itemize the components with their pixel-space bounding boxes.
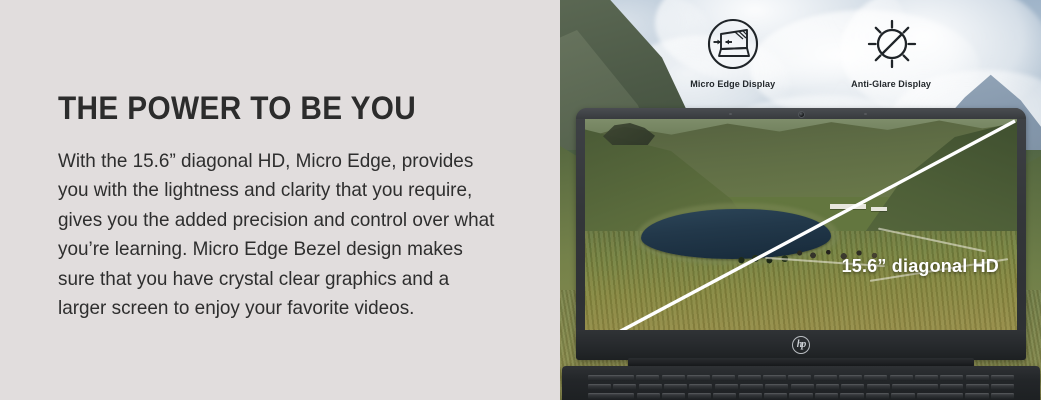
hp-logo: hp bbox=[792, 336, 810, 354]
screen-building bbox=[871, 207, 887, 211]
key bbox=[639, 384, 662, 390]
key bbox=[840, 393, 863, 399]
product-photo-panel: Micro Edge Display bbox=[560, 0, 1041, 400]
webcam-icon bbox=[798, 111, 805, 118]
key bbox=[940, 384, 963, 390]
laptop-chin-bezel: hp bbox=[576, 330, 1026, 360]
key bbox=[662, 375, 685, 381]
laptop-keyboard bbox=[588, 375, 1014, 400]
page-title: THE POWER TO BE YOU bbox=[58, 92, 488, 126]
key bbox=[687, 375, 710, 381]
key bbox=[763, 375, 786, 381]
key bbox=[915, 375, 938, 381]
key bbox=[991, 375, 1014, 381]
laptop-screen: 15.6” diagonal HD bbox=[585, 119, 1017, 351]
key bbox=[841, 384, 864, 390]
tab-key bbox=[588, 393, 634, 399]
enter-key bbox=[917, 393, 963, 399]
key bbox=[816, 384, 839, 390]
key bbox=[965, 393, 988, 399]
key bbox=[664, 384, 687, 390]
key bbox=[738, 375, 761, 381]
key bbox=[839, 375, 862, 381]
laptop-lid: 15.6” diagonal HD hp bbox=[576, 108, 1026, 360]
key bbox=[636, 375, 659, 381]
key bbox=[689, 384, 712, 390]
feature-micro-edge-display: Micro Edge Display bbox=[688, 18, 777, 90]
key bbox=[613, 384, 636, 390]
microphone-icon bbox=[729, 113, 732, 115]
key bbox=[791, 384, 814, 390]
key bbox=[991, 384, 1014, 390]
keyboard-row bbox=[588, 384, 1014, 390]
keyboard-row bbox=[588, 375, 1014, 381]
anti-glare-display-icon bbox=[866, 18, 918, 75]
key bbox=[890, 375, 913, 381]
key bbox=[713, 393, 736, 399]
keyboard-row bbox=[588, 393, 1014, 399]
key bbox=[637, 393, 660, 399]
feature-label-micro-edge: Micro Edge Display bbox=[690, 79, 775, 90]
key bbox=[891, 393, 914, 399]
screen-size-label: 15.6” diagonal HD bbox=[842, 256, 999, 277]
backspace-key bbox=[892, 384, 938, 390]
laptop-product-image: 15.6” diagonal HD hp bbox=[576, 108, 1026, 400]
key bbox=[740, 384, 763, 390]
key bbox=[588, 375, 634, 381]
text-content: THE POWER TO BE YOU With the 15.6” diago… bbox=[58, 92, 520, 324]
key bbox=[966, 384, 989, 390]
microphone-icon bbox=[864, 113, 867, 115]
key bbox=[788, 375, 811, 381]
key bbox=[712, 375, 735, 381]
key bbox=[765, 384, 788, 390]
key bbox=[739, 393, 762, 399]
key bbox=[764, 393, 787, 399]
key bbox=[866, 393, 889, 399]
marketing-banner: THE POWER TO BE YOU With the 15.6” diago… bbox=[0, 0, 1041, 400]
key bbox=[688, 393, 711, 399]
feature-anti-glare-display: Anti-Glare Display bbox=[849, 18, 933, 90]
laptop-top-bezel bbox=[576, 108, 1026, 119]
key bbox=[588, 384, 611, 390]
key bbox=[966, 375, 989, 381]
key bbox=[940, 375, 963, 381]
feature-label-anti-glare: Anti-Glare Display bbox=[852, 79, 932, 90]
text-panel: THE POWER TO BE YOU With the 15.6” diago… bbox=[0, 0, 560, 400]
body-paragraph: With the 15.6” diagonal HD, Micro Edge, … bbox=[58, 147, 496, 324]
key bbox=[814, 375, 837, 381]
key bbox=[864, 375, 887, 381]
feature-icons-row: Micro Edge Display bbox=[688, 18, 934, 90]
key bbox=[867, 384, 890, 390]
key bbox=[815, 393, 838, 399]
key bbox=[715, 384, 738, 390]
key bbox=[991, 393, 1014, 399]
key bbox=[789, 393, 812, 399]
key bbox=[662, 393, 685, 399]
micro-edge-display-icon bbox=[707, 18, 759, 75]
laptop-base bbox=[562, 366, 1040, 400]
screen-building bbox=[830, 204, 866, 209]
